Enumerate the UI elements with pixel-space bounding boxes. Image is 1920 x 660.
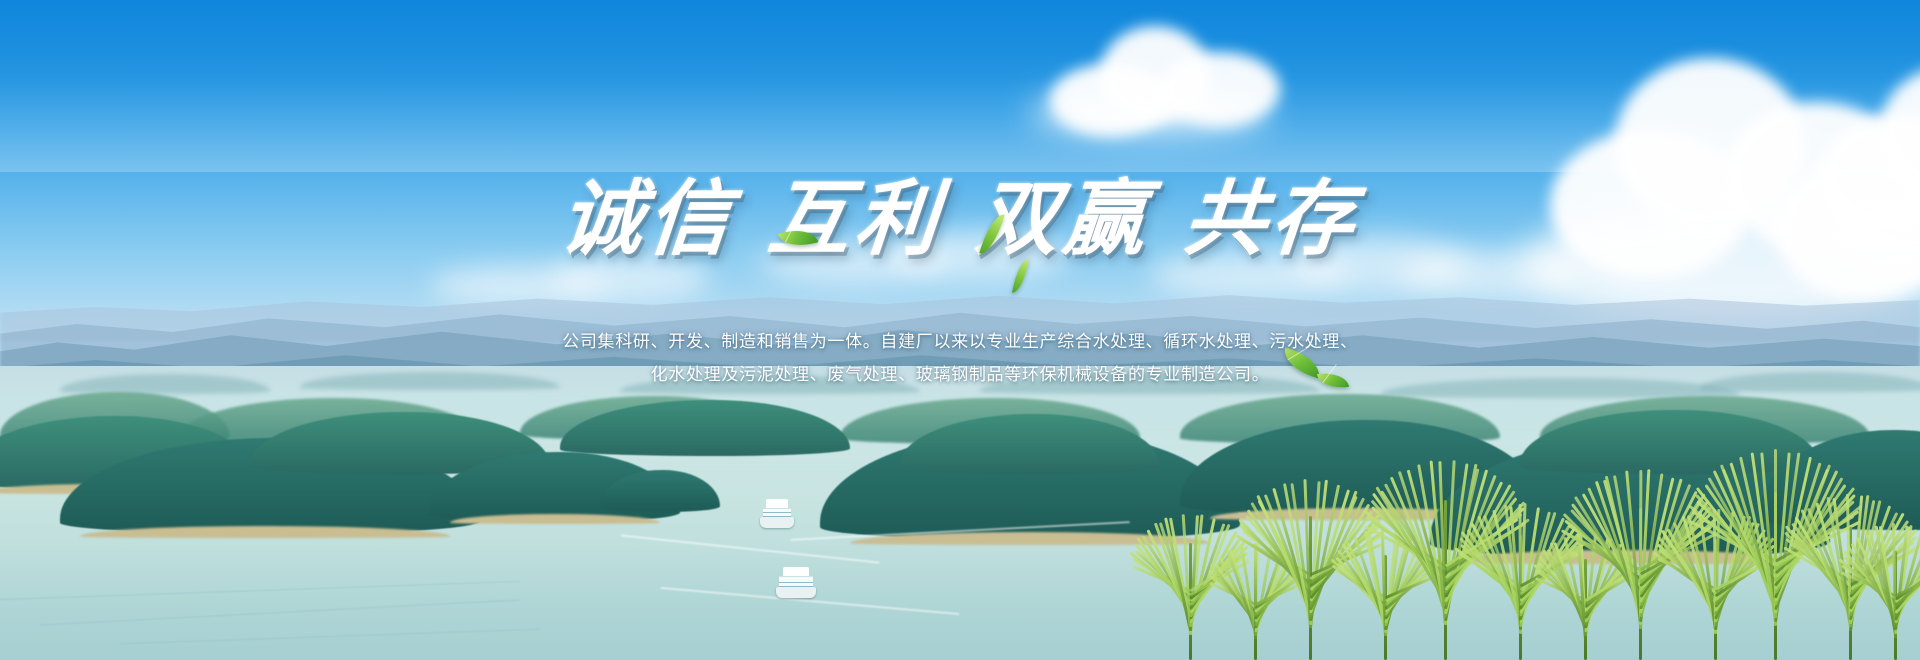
hero-banner: 诚信互利双赢共存 公司集科研、开发、制造和销售为一体。自建厂以来以专业生产综合水… <box>0 0 1920 660</box>
headline-word-1: 诚信 <box>556 171 738 267</box>
subtitle-line-1: 公司集科研、开发、制造和销售为一体。自建厂以来以专业生产综合水处理、循环水处理、… <box>0 326 1920 359</box>
headline-word-2: 互利 <box>764 171 946 267</box>
banner-subtitle: 公司集科研、开发、制造和销售为一体。自建厂以来以专业生产综合水处理、循环水处理、… <box>0 326 1920 392</box>
passenger-boat-near <box>776 568 816 598</box>
island-shoreline <box>450 514 660 524</box>
passenger-boat-far <box>760 500 794 528</box>
page-title: 诚信互利双赢共存 <box>0 152 1920 271</box>
foreground-pine-branches <box>1160 430 1920 660</box>
headline-word-4: 共存 <box>1180 171 1362 267</box>
subtitle-line-2: 化水处理及污泥处理、废气处理、玻璃钢制品等环保机械设备的专业制造公司。 <box>0 359 1920 392</box>
cloud-center <box>1030 18 1290 138</box>
